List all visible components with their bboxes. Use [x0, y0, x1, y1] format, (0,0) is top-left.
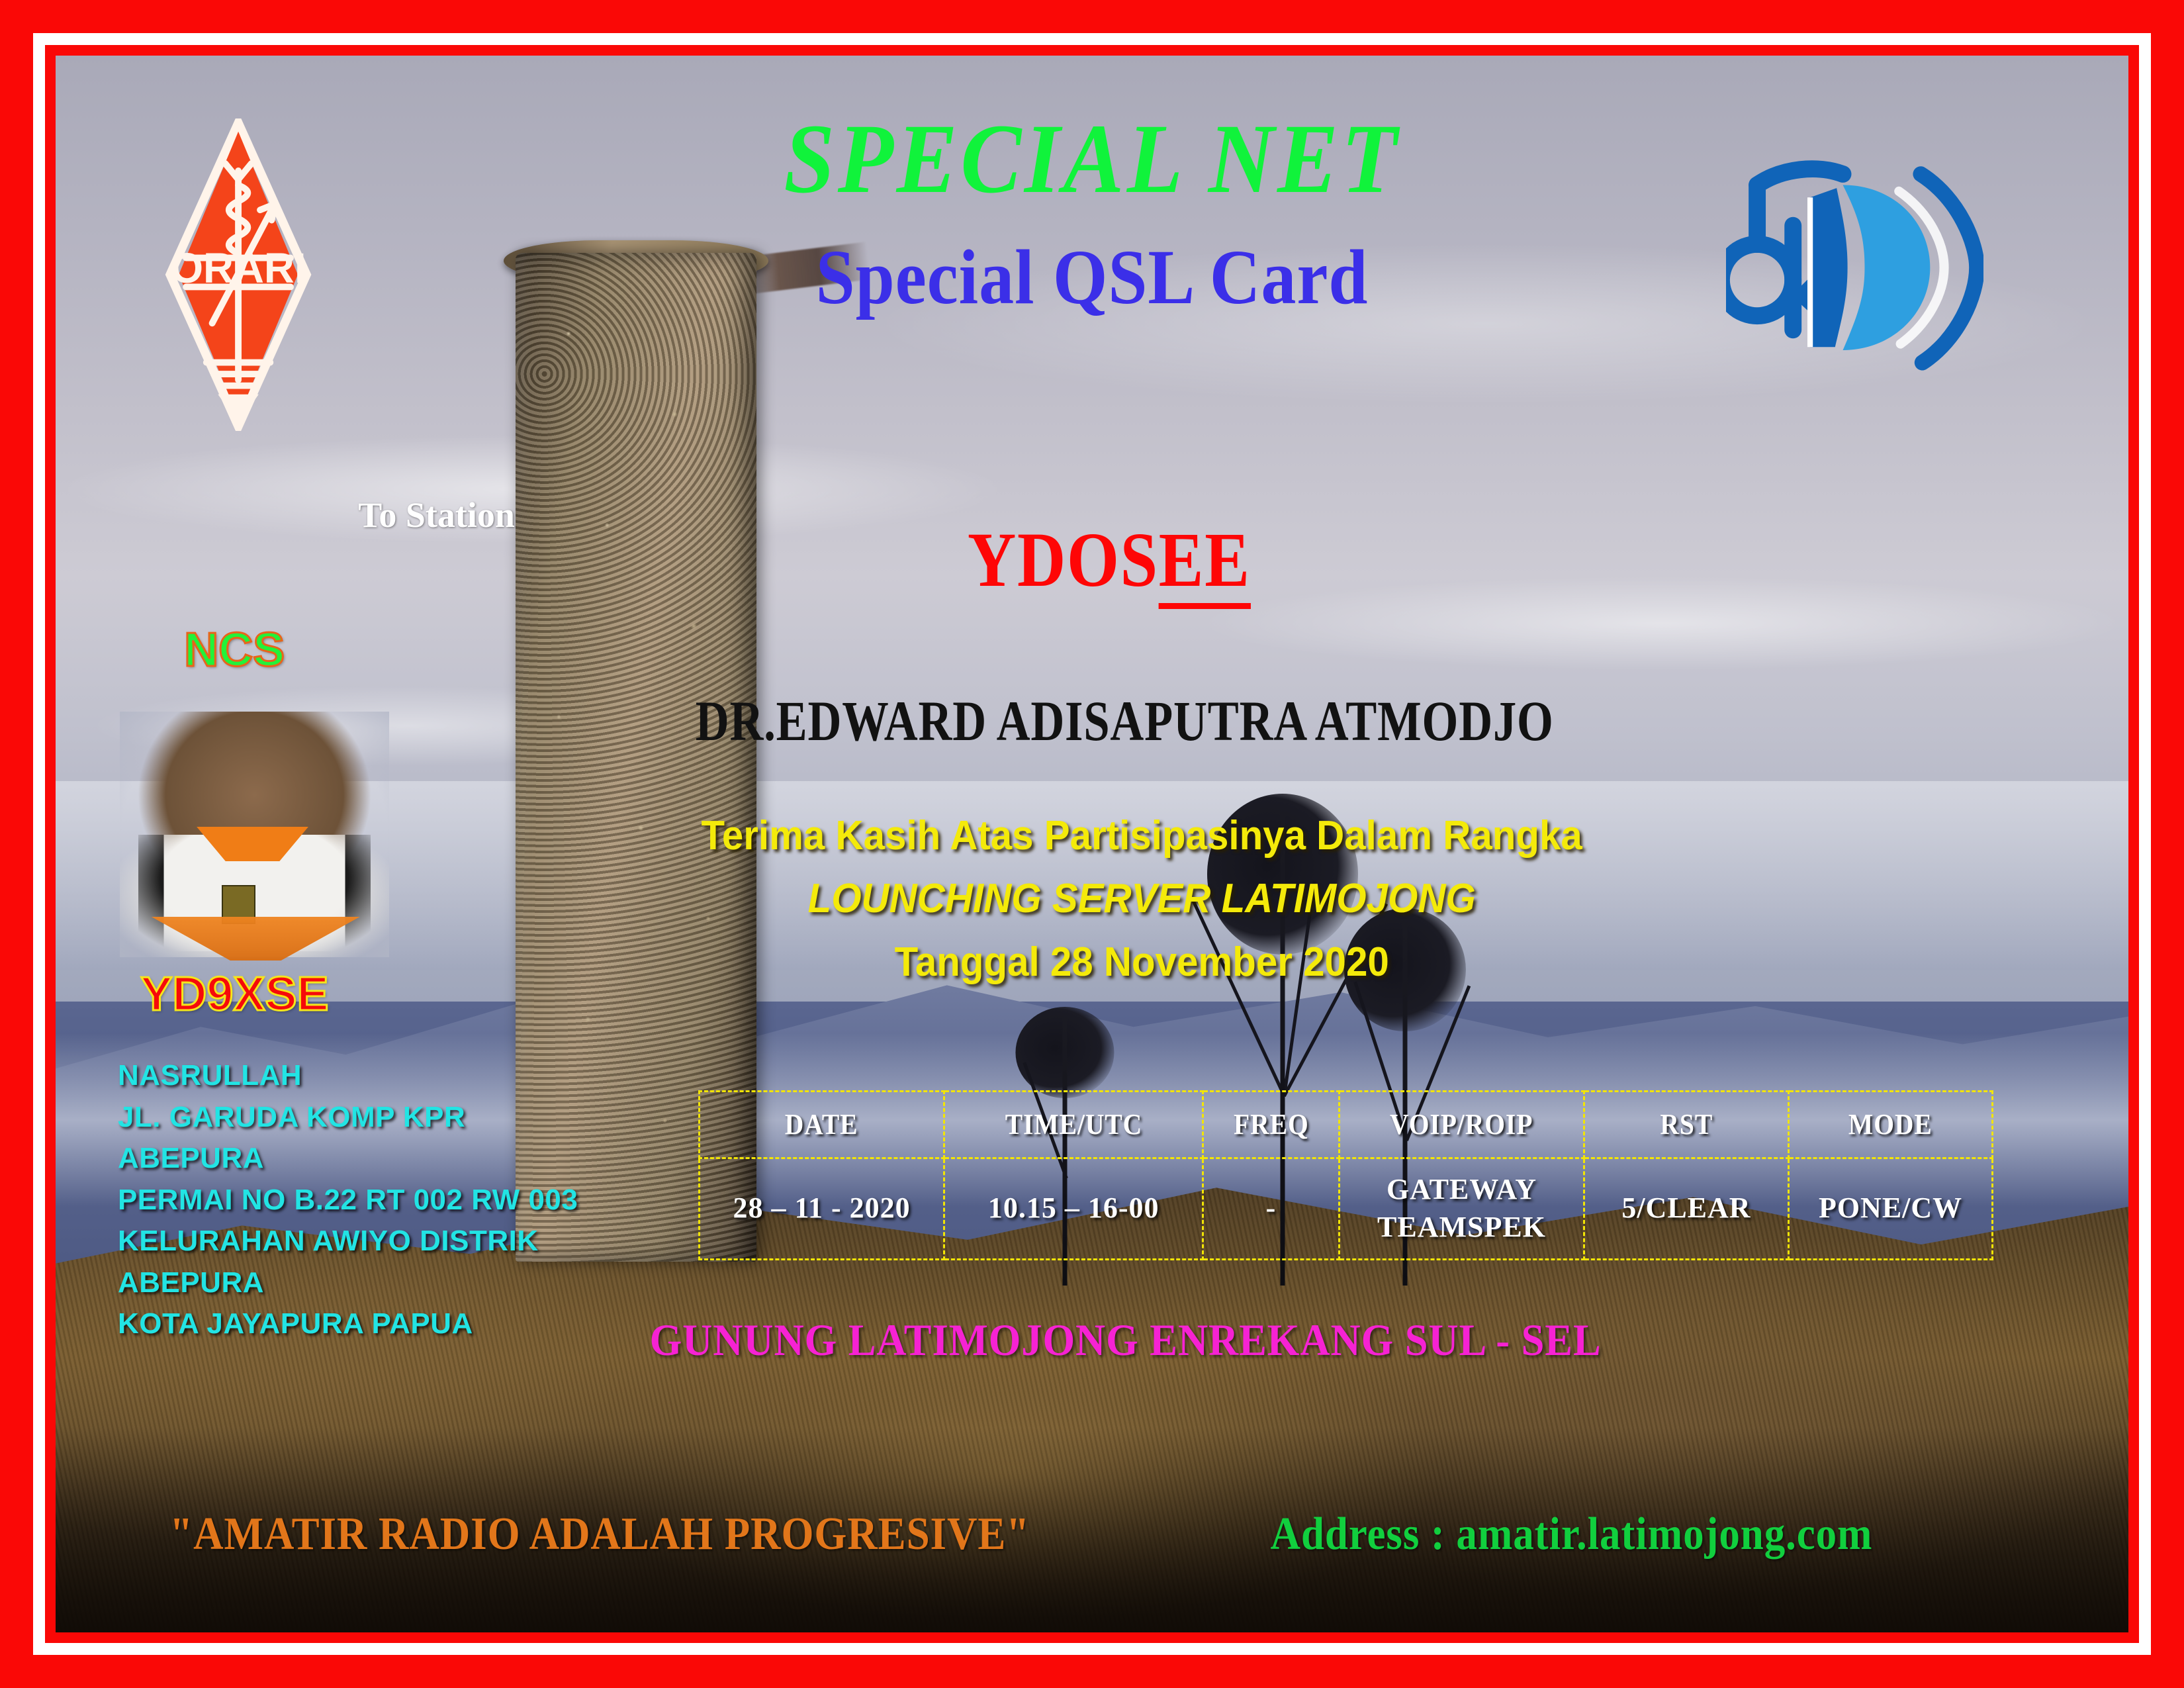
address-line: KELURAHAN AWIYO DISTRIK: [118, 1221, 578, 1262]
cell-voip-roip-line2: TEAMSPEK: [1377, 1211, 1546, 1243]
thanks-line: Terima Kasih Atas Partisipasinya Dalam R…: [118, 816, 2066, 857]
column-header-date: DATE: [711, 1091, 932, 1158]
mailing-address: NASRULLAH JL. GARUDA KOMP KPR ABEPURA PE…: [118, 1055, 578, 1344]
event-date: Tanggal 28 November 2020: [118, 942, 2066, 983]
page-title: SPECIAL NET: [138, 109, 2045, 209]
address-line: PERMAI NO B.22 RT 002 RW 003: [118, 1180, 578, 1221]
cell-time: 10.15 – 16-00: [944, 1158, 1203, 1259]
cell-freq: -: [1203, 1158, 1340, 1259]
ncs-label: NCS: [184, 626, 285, 674]
address-line: ABEPURA: [118, 1138, 578, 1179]
operator-name: DR.EDWARD ADISAPUTRA ATMODJO: [242, 692, 1942, 749]
column-header-voip-roip: VOIP/ROIP: [1351, 1091, 1572, 1158]
address-line: ABEPURA: [118, 1262, 578, 1303]
cell-rst: 5/CLEAR: [1584, 1158, 1789, 1259]
card-subtitle: Special QSL Card: [159, 238, 2025, 316]
card-photo-area: ORARI SPECIAL NET Special QSL Card To St…: [56, 56, 2128, 1632]
station-callsign: YDOSEE: [201, 521, 1983, 599]
web-address: Address : amatir.latimojong.com: [1271, 1511, 1873, 1558]
column-header-time: TIME/UTC: [957, 1091, 1190, 1158]
address-line: NASRULLAH: [118, 1055, 578, 1096]
column-header-rst: RST: [1594, 1091, 1778, 1158]
callsign-underlined-text: EE: [1159, 516, 1251, 609]
table-row: 28 – 11 - 2020 10.15 – 16-00 - GATEWAY T…: [699, 1158, 1993, 1259]
cell-date: 28 – 11 - 2020: [699, 1158, 944, 1259]
cell-voip-roip-line1: GATEWAY: [1387, 1173, 1537, 1205]
qsl-card: ORARI SPECIAL NET Special QSL Card To St…: [0, 0, 2184, 1688]
ncs-callsign: YD9XSE: [140, 970, 328, 1018]
table-header-row: DATE TIME/UTC FREQ VOIP/ROIP RST MODE: [699, 1091, 1993, 1158]
cell-voip-roip: GATEWAY TEAMSPEK: [1339, 1158, 1584, 1259]
callsign-text: YDOS: [968, 516, 1159, 603]
cell-mode: PONE/CW: [1788, 1158, 1993, 1259]
column-header-mode: MODE: [1799, 1091, 1983, 1158]
column-header-freq: FREQ: [1210, 1091, 1332, 1158]
location-line: GUNUNG LATIMOJONG ENREKANG SUL - SEL: [138, 1317, 2045, 1362]
event-name: LOUNCHING SERVER LATIMOJONG: [118, 878, 2066, 919]
motto-text: "AMATIR RADIO ADALAH PROGRESIVE": [169, 1511, 1030, 1558]
qso-details-table: DATE TIME/UTC FREQ VOIP/ROIP RST MODE 28…: [698, 1090, 1994, 1260]
address-line: JL. GARUDA KOMP KPR: [118, 1097, 578, 1138]
